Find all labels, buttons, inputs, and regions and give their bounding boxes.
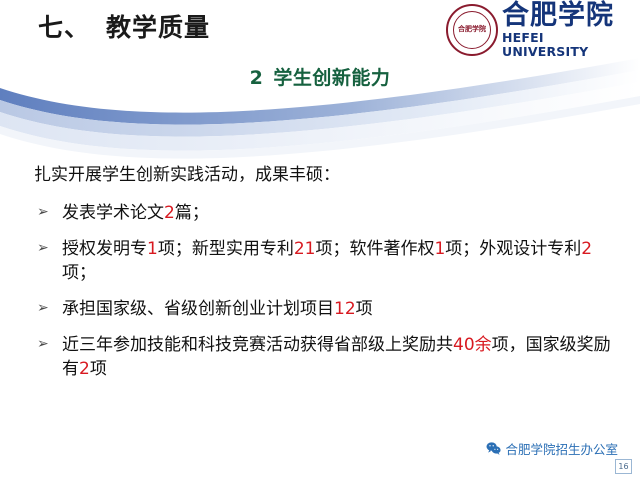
lead-paragraph: 扎实开展学生创新实践活动，成果丰硕：: [34, 164, 614, 187]
bullet-text-part: 项: [356, 299, 373, 319]
bullet-text: 承担国家级、省级创新创业计划项目12项: [62, 299, 373, 319]
watermark-label: 合肥学院招生办公室: [505, 439, 618, 458]
bullet-arrow-icon: ➢: [37, 298, 49, 318]
highlight-value: 2: [164, 203, 175, 223]
university-seal-text: 合肥学院: [448, 6, 496, 54]
bullet-item: ➢发表学术论文2篇；: [34, 201, 614, 226]
bullet-item: ➢承担国家级、省级创新创业计划项目12项: [34, 297, 614, 322]
section-subtitle-text: 学生创新能力: [273, 67, 390, 89]
highlight-value: 21: [294, 239, 316, 259]
bullet-text-part: 篇；: [175, 203, 209, 223]
bullet-text-part: 项；新型实用专利: [158, 239, 294, 259]
bullet-arrow-icon: ➢: [37, 202, 49, 222]
bullet-text-part: 项: [90, 359, 107, 379]
page-title-text: 教学质量: [106, 13, 210, 42]
bullet-text-part: 授权发明专: [62, 239, 147, 259]
university-name-cn: 合肥学院: [502, 2, 632, 29]
highlight-value: 2: [79, 359, 90, 379]
bullet-text: 发表学术论文2篇；: [62, 203, 209, 223]
page-title-number: 七、: [38, 13, 90, 42]
watermark: 合肥学院招生办公室: [486, 439, 618, 458]
bullet-text-part: 发表学术论文: [62, 203, 164, 223]
page-title: 七、教学质量: [38, 8, 210, 44]
section-subtitle-number: 2: [250, 67, 264, 89]
bullet-arrow-icon: ➢: [37, 334, 49, 354]
highlight-value: 12: [334, 299, 356, 319]
bullet-list: ➢发表学术论文2篇；➢授权发明专1项；新型实用专利21项；软件著作权1项；外观设…: [34, 201, 614, 382]
bullet-text-part: 项；: [62, 263, 96, 283]
bullet-text-part: 承担国家级、省级创新创业计划项目: [62, 299, 334, 319]
university-logo-text: 合肥学院 HEFEI UNIVERSITY: [502, 2, 632, 59]
slide-body: 扎实开展学生创新实践活动，成果丰硕： ➢发表学术论文2篇；➢授权发明专1项；新型…: [34, 164, 614, 393]
bullet-text-part: 近三年参加技能和科技竞赛活动获得省部级上奖励共: [62, 335, 453, 355]
university-name-en: HEFEI UNIVERSITY: [502, 31, 632, 59]
university-logo: 合肥学院 合肥学院 HEFEI UNIVERSITY: [446, 4, 632, 56]
bullet-item: ➢授权发明专1项；新型实用专利21项；软件著作权1项；外观设计专利2项；: [34, 237, 614, 286]
highlight-value: 1: [434, 239, 445, 259]
bullet-text: 授权发明专1项；新型实用专利21项；软件著作权1项；外观设计专利2项；: [62, 239, 592, 284]
highlight-value: 1: [147, 239, 158, 259]
bullet-text-part: 项；外观设计专利: [445, 239, 581, 259]
highlight-value: 40余: [453, 335, 492, 355]
wechat-icon: [486, 442, 501, 455]
page-number: 16: [615, 459, 632, 474]
slide: 七、教学质量 合肥学院 合肥学院 HEFEI UNIVERSITY 2学生创新能…: [0, 0, 640, 480]
bullet-item: ➢近三年参加技能和科技竞赛活动获得省部级上奖励共40余项，国家级奖励有2项: [34, 333, 614, 382]
section-subtitle: 2学生创新能力: [0, 63, 640, 90]
highlight-value: 2: [581, 239, 592, 259]
bullet-text: 近三年参加技能和科技竞赛活动获得省部级上奖励共40余项，国家级奖励有2项: [62, 335, 611, 380]
bullet-text-part: 项；软件著作权: [315, 239, 434, 259]
university-seal-icon: 合肥学院: [446, 4, 498, 56]
bullet-arrow-icon: ➢: [37, 238, 49, 258]
